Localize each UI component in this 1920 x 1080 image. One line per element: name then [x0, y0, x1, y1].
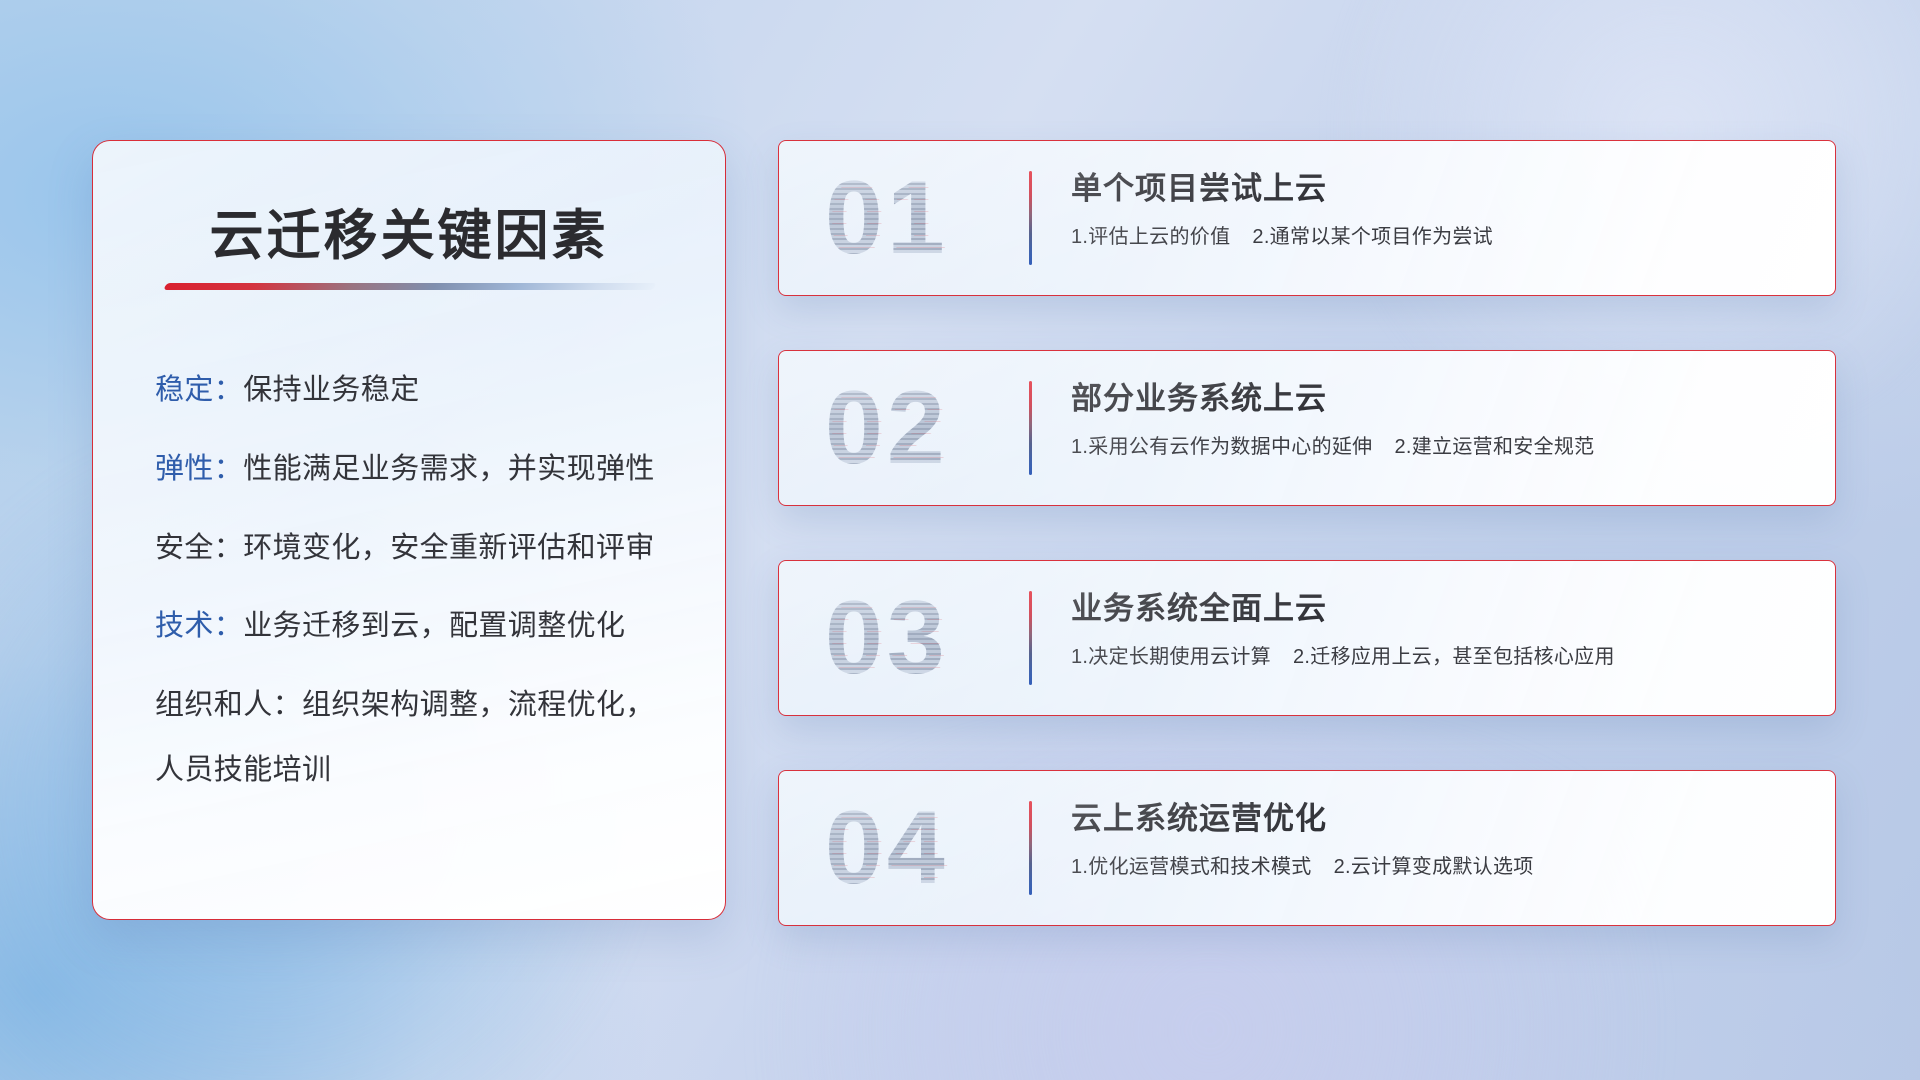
stage-card-description: 1.采用公有云作为数据中心的延伸2.建立运营和安全规范 — [1071, 435, 1799, 460]
stage-number-04-tint: 04 — [828, 798, 952, 902]
stage-card-body: 部分业务系统上云 1.采用公有云作为数据中心的延伸2.建立运营和安全规范 — [1071, 381, 1799, 460]
stage-card-description: 1.优化运营模式和技术模式2.云计算变成默认选项 — [1071, 855, 1799, 880]
list-item: 弹性：性能满足业务需求，并实现弹性 — [155, 452, 691, 487]
stage-point-2: 2.通常以某个项目作为尝试 — [1252, 226, 1493, 248]
stage-card-title: 部分业务系统上云 — [1071, 381, 1799, 417]
list-item: 稳定：保持业务稳定 — [155, 373, 691, 408]
stage-number-01-tint: 01 — [828, 168, 952, 272]
list-item-key: 弹性： — [155, 453, 243, 485]
stage-point-1: 1.决定长期使用云计算 — [1071, 646, 1271, 668]
stage-point-1: 1.优化运营模式和技术模式 — [1071, 856, 1312, 878]
list-item-continuation: 人员技能培训 — [155, 753, 691, 788]
stage-point-2: 2.建立运营和安全规范 — [1394, 436, 1594, 458]
key-factors-panel: 云迁移关键因素 稳定：保持业务稳定 弹性：性能满足业务需求，并实现弹性 安全：环… — [92, 140, 726, 920]
list-item: 安全：环境变化，安全重新评估和评审 — [155, 531, 691, 566]
list-item-key: 安全： — [155, 532, 243, 564]
list-item-text: 人员技能培训 — [155, 754, 331, 786]
list-item-text: 业务迁移到云，配置调整优化 — [243, 610, 625, 642]
list-item-text: 保持业务稳定 — [243, 374, 419, 406]
key-factors-list: 稳定：保持业务稳定 弹性：性能满足业务需求，并实现弹性 安全：环境变化，安全重新… — [155, 373, 691, 832]
stage-card-02[interactable]: 02 02 部分业务系统上云 1.采用公有云作为数据中心的延伸2.建立运营和安全… — [778, 350, 1836, 506]
stage-point-2: 2.云计算变成默认选项 — [1334, 856, 1534, 878]
stage-card-description: 1.决定长期使用云计算2.迁移应用上云，甚至包括核心应用 — [1071, 645, 1799, 670]
stage-card-body: 单个项目尝试上云 1.评估上云的价值2.通常以某个项目作为尝试 — [1071, 171, 1799, 250]
stage-number-02-tint: 02 — [828, 378, 952, 482]
stage-card-04[interactable]: 04 04 云上系统运营优化 1.优化运营模式和技术模式2.云计算变成默认选项 — [778, 770, 1836, 926]
list-item-text: 性能满足业务需求，并实现弹性 — [243, 453, 655, 485]
list-item-text: 环境变化，安全重新评估和评审 — [243, 532, 655, 564]
stage-number-03: 03 — [825, 586, 949, 690]
title-underline-accent — [163, 283, 656, 290]
stage-number-02: 02 — [825, 376, 949, 480]
stage-card-03[interactable]: 03 03 业务系统全面上云 1.决定长期使用云计算2.迁移应用上云，甚至包括核… — [778, 560, 1836, 716]
stage-point-2: 2.迁移应用上云，甚至包括核心应用 — [1293, 646, 1615, 668]
stage-card-body: 云上系统运营优化 1.优化运营模式和技术模式2.云计算变成默认选项 — [1071, 801, 1799, 880]
stage-number-04: 04 — [825, 796, 949, 900]
stage-card-title: 单个项目尝试上云 — [1071, 171, 1799, 207]
stage-card-title: 云上系统运营优化 — [1071, 801, 1799, 837]
card-divider-accent — [1029, 801, 1032, 895]
stage-card-description: 1.评估上云的价值2.通常以某个项目作为尝试 — [1071, 225, 1799, 250]
stage-number-01: 01 — [825, 166, 949, 270]
stage-card-body: 业务系统全面上云 1.决定长期使用云计算2.迁移应用上云，甚至包括核心应用 — [1071, 591, 1799, 670]
slide-canvas: 云迁移关键因素 稳定：保持业务稳定 弹性：性能满足业务需求，并实现弹性 安全：环… — [0, 0, 1920, 1080]
stage-point-1: 1.采用公有云作为数据中心的延伸 — [1071, 436, 1372, 458]
card-divider-accent — [1029, 171, 1032, 265]
migration-stage-card-list: 01 01 单个项目尝试上云 1.评估上云的价值2.通常以某个项目作为尝试 02… — [778, 140, 1836, 926]
stage-card-01[interactable]: 01 01 单个项目尝试上云 1.评估上云的价值2.通常以某个项目作为尝试 — [778, 140, 1836, 296]
stage-number-03-tint: 03 — [828, 588, 952, 692]
card-divider-accent — [1029, 381, 1032, 475]
list-item-key: 技术： — [155, 610, 243, 642]
page-title: 云迁移关键因素 — [93, 191, 725, 270]
list-item-key: 稳定： — [155, 374, 243, 406]
card-divider-accent — [1029, 591, 1032, 685]
stage-card-title: 业务系统全面上云 — [1071, 591, 1799, 627]
list-item-text: 组织架构调整，流程优化， — [302, 689, 655, 721]
list-item: 技术：业务迁移到云，配置调整优化 — [155, 609, 691, 644]
list-item: 组织和人：组织架构调整，流程优化， — [155, 688, 691, 723]
stage-point-1: 1.评估上云的价值 — [1071, 226, 1230, 248]
list-item-key: 组织和人： — [155, 689, 302, 721]
